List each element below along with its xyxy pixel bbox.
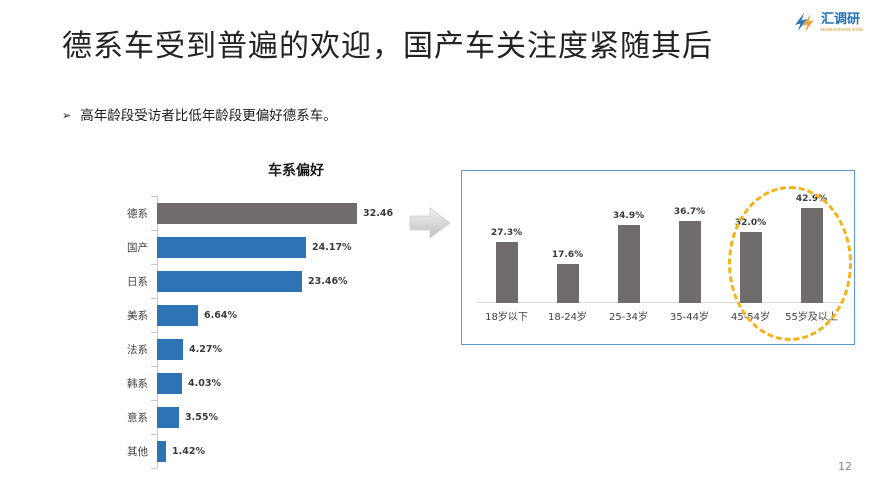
bar-value-label: 27.3%	[491, 228, 522, 238]
bar	[679, 221, 701, 303]
bar-category-label: 18-24岁	[548, 303, 587, 333]
bar-column: 27.3%18岁以下	[476, 181, 537, 333]
axis-tick	[151, 468, 157, 469]
logo-name-cn: 汇调研	[821, 13, 863, 26]
bar-category-label: 其他	[105, 444, 157, 459]
bar-track: 1.42%	[157, 434, 435, 468]
bar-category-label: 45-54岁	[731, 303, 770, 333]
bar-category-label: 法系	[105, 342, 157, 357]
bar	[157, 305, 198, 326]
lightning-mark-icon	[792, 10, 818, 36]
page-number: 12	[838, 460, 852, 473]
bar	[157, 339, 183, 360]
bar-row: 其他1.42%	[105, 434, 435, 468]
bar	[740, 232, 762, 303]
axis-tick	[151, 366, 157, 367]
bar-column: 17.6%18-24岁	[537, 181, 598, 333]
bar-value-label: 3.55%	[185, 412, 218, 423]
bar-category-label: 25-34岁	[609, 303, 648, 333]
axis-tick	[151, 332, 157, 333]
page-title: 德系车受到普遍的欢迎，国产车关注度紧随其后	[62, 26, 713, 68]
bar-category-label: 国产	[105, 240, 157, 255]
axis-tick	[151, 400, 157, 401]
axis-tick	[151, 196, 157, 197]
bar-track: 4.27%	[157, 332, 435, 366]
bar-column: 36.7%35-44岁	[659, 181, 720, 333]
bar-value-label: 23.46%	[308, 276, 348, 287]
bullet-point: ➢ 高年龄段受访者比低年龄段更偏好德系车。	[62, 104, 337, 124]
bar-value-label: 24.17%	[312, 242, 352, 253]
axis-tick	[151, 298, 157, 299]
bar-value-label: 4.27%	[189, 344, 222, 355]
bar	[496, 242, 518, 303]
bar	[618, 225, 640, 303]
bar-value-label: 34.9%	[613, 211, 644, 221]
bar-value-label: 32.46	[363, 208, 393, 219]
bar	[157, 237, 306, 258]
axis-tick	[151, 264, 157, 265]
bar-category-label: 韩系	[105, 376, 157, 391]
chart-plot-area: 德系32.46国产24.17%日系23.46%美系6.64%法系4.27%韩系4…	[105, 196, 435, 468]
bar-track: 23.46%	[157, 264, 435, 298]
bar-value-label: 32.0%	[735, 218, 766, 228]
bar-value-label: 1.42%	[172, 446, 205, 457]
bar-column: 34.9%25-34岁	[598, 181, 659, 333]
bar-row: 日系23.46%	[105, 264, 435, 298]
axis-tick	[151, 230, 157, 231]
chart-title: 车系偏好	[105, 160, 435, 180]
bar-track: 3.55%	[157, 400, 435, 434]
bullet-arrow-icon: ➢	[62, 109, 71, 122]
bar-category-label: 35-44岁	[670, 303, 709, 333]
car-brand-preference-chart: 车系偏好 德系32.46国产24.17%日系23.46%美系6.64%法系4.2…	[105, 160, 435, 470]
bar-category-label: 18岁以下	[485, 303, 528, 333]
bar	[157, 407, 179, 428]
bar-track: 4.03%	[157, 366, 435, 400]
logo-name-en: HUIDIAOYAN.COM	[821, 28, 863, 32]
bar-value-label: 42.9%	[796, 194, 827, 204]
bar-category-label: 意系	[105, 410, 157, 425]
age-chart-plot-area: 27.3%18岁以下17.6%18-24岁34.9%25-34岁36.7%35-…	[476, 181, 842, 333]
brand-logo: 汇调研 HUIDIAOYAN.COM	[792, 9, 870, 37]
bar-category-label: 美系	[105, 308, 157, 323]
bar-row: 意系3.55%	[105, 400, 435, 434]
bar-row: 国产24.17%	[105, 230, 435, 264]
logo-wordmark: 汇调研 HUIDIAOYAN.COM	[821, 13, 863, 32]
bar	[557, 264, 579, 303]
bar-category-label: 日系	[105, 274, 157, 289]
bar-column: 32.0%45-54岁	[720, 181, 781, 333]
axis-tick	[151, 434, 157, 435]
bar-value-label: 17.6%	[552, 250, 583, 260]
bar-row: 法系4.27%	[105, 332, 435, 366]
bar	[801, 208, 823, 303]
bar-row: 德系32.46	[105, 196, 435, 230]
bar	[157, 373, 182, 394]
bar-value-label: 36.7%	[674, 207, 705, 217]
bar	[157, 441, 166, 462]
arrow-callout-icon	[408, 205, 452, 241]
bar-track: 24.17%	[157, 230, 435, 264]
bar-row: 韩系4.03%	[105, 366, 435, 400]
bar-value-label: 4.03%	[188, 378, 221, 389]
bar-column: 42.9%55岁及以上	[781, 181, 842, 333]
bar-value-label: 6.64%	[204, 310, 237, 321]
bar-track: 32.46	[157, 196, 435, 230]
bar-track: 6.64%	[157, 298, 435, 332]
bar-category-label: 55岁及以上	[785, 303, 838, 333]
bar	[157, 203, 357, 224]
bullet-text: 高年龄段受访者比低年龄段更偏好德系车。	[80, 104, 337, 124]
bar	[157, 271, 302, 292]
age-breakdown-panel: 27.3%18岁以下17.6%18-24岁34.9%25-34岁36.7%35-…	[461, 170, 855, 345]
bar-row: 美系6.64%	[105, 298, 435, 332]
bar-category-label: 德系	[105, 206, 157, 221]
